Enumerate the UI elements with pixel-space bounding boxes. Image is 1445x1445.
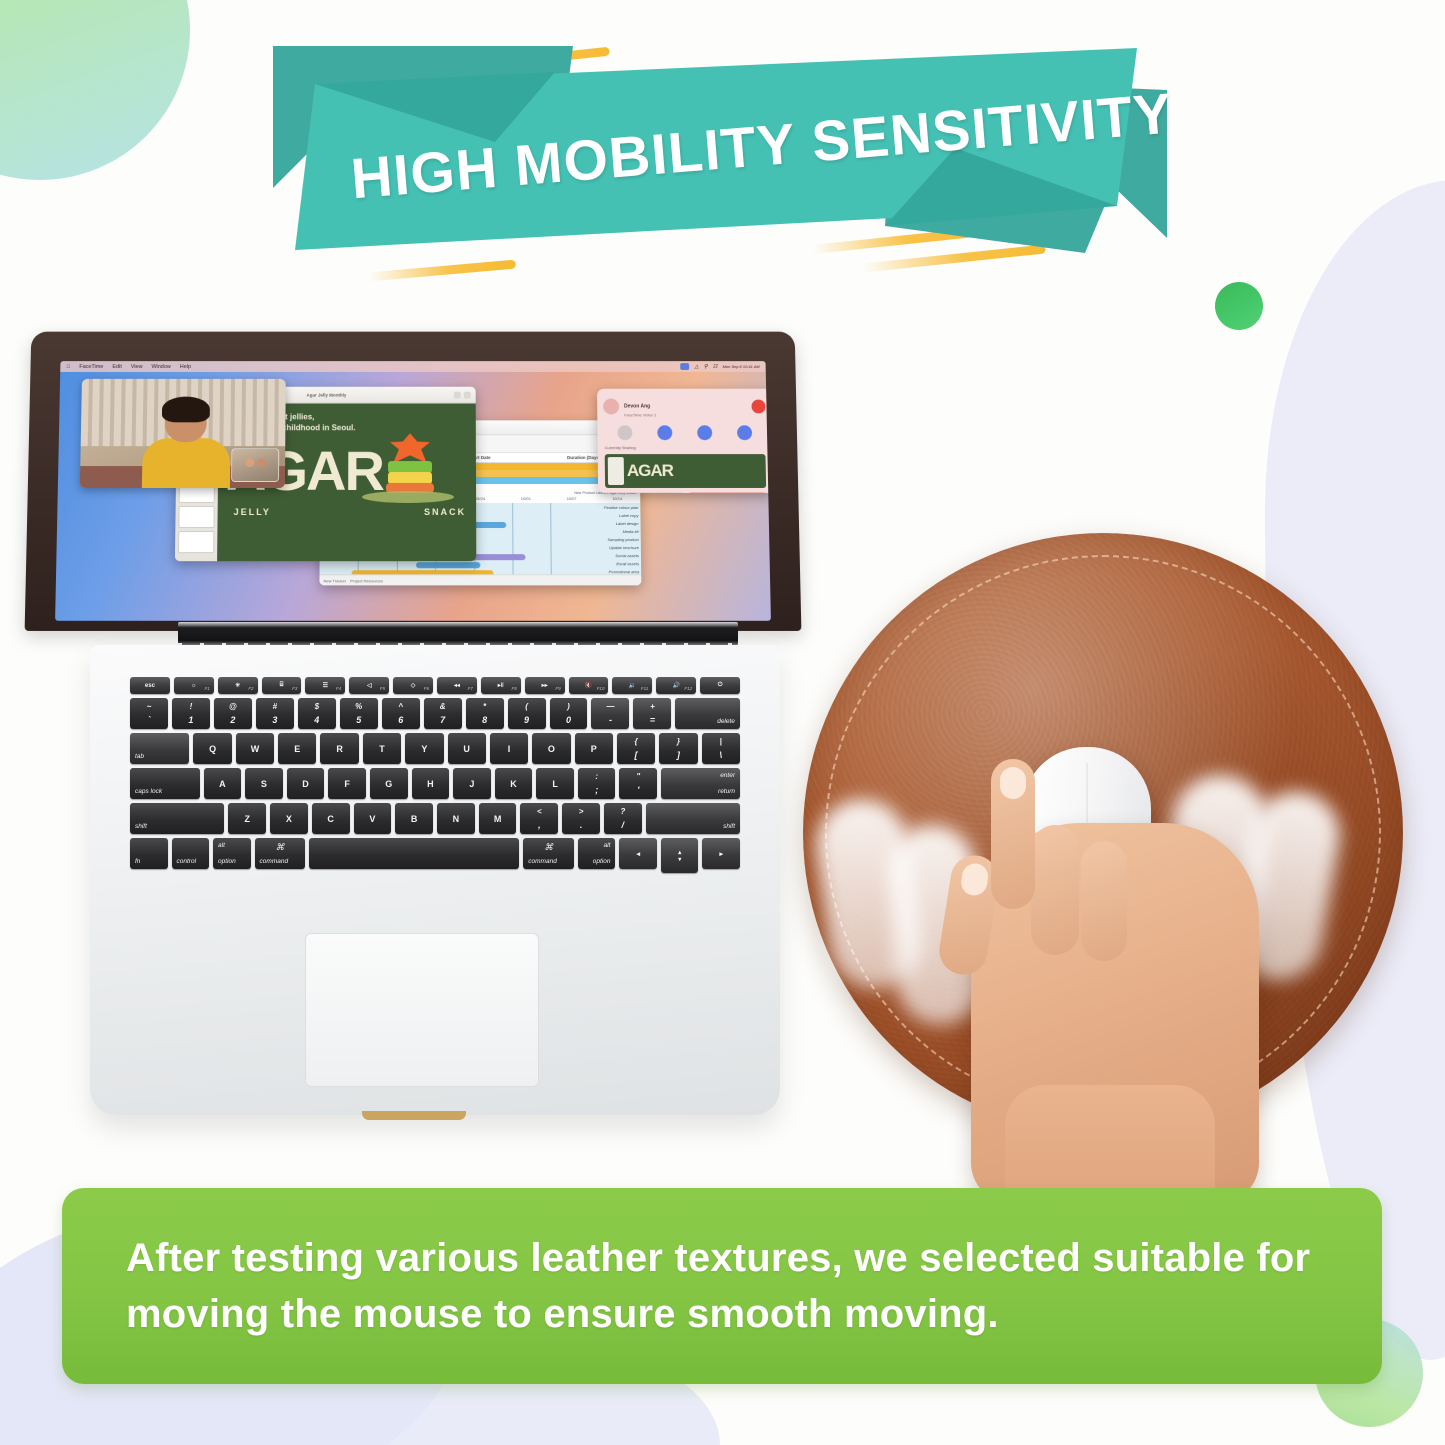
key-f11[interactable]: 🔉F11 <box>612 677 652 694</box>
control-center-icon[interactable]: ☷ <box>713 364 718 370</box>
menubar-clock[interactable]: Mon Sep 8 10:41 AM <box>722 364 759 369</box>
key-n[interactable]: N <box>437 803 475 834</box>
laptop-base: esc ☼F1 ☀F2 ⌸F3 ☰F4 ◁F5 ◇F6 ◂◂F7 ▸‖F8 ▸▸… <box>90 645 780 1115</box>
keyboard-row-number: ~` !1 @2 #3 $4 %5 ^6 &7 *8 (9 )0 —- += d… <box>130 698 740 729</box>
key-x[interactable]: X <box>270 803 308 834</box>
key-z[interactable]: Z <box>228 803 266 834</box>
key-s[interactable]: S <box>245 768 283 799</box>
key-w[interactable]: W <box>236 733 274 764</box>
laptop-lid:  FaceTime Edit View Window Help △ ⚲ ☷ M… <box>25 332 802 631</box>
headline-ribbon-banner: HIGH MOBILITY SENSITIVITY <box>255 38 1185 283</box>
gummy-product-image <box>384 433 436 495</box>
key-arrow-updown[interactable]: ▴ ▾ <box>661 838 699 873</box>
key-shift-left[interactable]: shift <box>130 803 224 834</box>
key-r[interactable]: R <box>320 733 358 764</box>
index-finger <box>991 759 1035 909</box>
key-period[interactable]: >. <box>562 803 600 834</box>
caption-line-1: After testing various leather textures, … <box>126 1230 1318 1286</box>
apple-menu-icon[interactable]:  <box>66 364 70 370</box>
gradient-blob-top-left <box>0 0 190 180</box>
key-b[interactable]: B <box>395 803 433 834</box>
effects-icon[interactable] <box>737 425 752 440</box>
key-c[interactable]: C <box>312 803 350 834</box>
key-f2[interactable]: ☀F2 <box>218 677 258 694</box>
arrow-up-icon[interactable]: ▴ <box>678 849 681 856</box>
edit-window-button[interactable] <box>605 492 684 493</box>
window-title: Agar Jelly Monthly <box>307 392 347 397</box>
key-bracket-right[interactable]: }] <box>659 733 697 764</box>
key-f3[interactable]: ⌸F3 <box>262 677 302 694</box>
key-l[interactable]: L <box>536 768 574 799</box>
key-f6[interactable]: ◇F6 <box>393 677 433 694</box>
spreadsheet-tabbar: New Tracker Project Resources <box>319 574 641 585</box>
key-4[interactable]: $4 <box>298 698 336 729</box>
person-hair <box>162 397 210 423</box>
key-slash[interactable]: ?/ <box>604 803 642 834</box>
key-f9[interactable]: ▸▸F9 <box>525 677 565 694</box>
macos-menubar:  FaceTime Edit View Window Help △ ⚲ ☷ M… <box>60 361 766 372</box>
key-f10[interactable]: 🔇F10 <box>569 677 609 694</box>
picture-in-picture-tile[interactable] <box>231 448 279 482</box>
person-body <box>142 438 231 488</box>
key-9[interactable]: (9 <box>508 698 546 729</box>
gantt-task-label: Update brochure <box>609 545 639 550</box>
key-tab[interactable]: tab <box>130 733 189 764</box>
key-tilde[interactable]: ~` <box>130 698 168 729</box>
key-t[interactable]: T <box>363 733 401 764</box>
key-p[interactable]: P <box>575 733 613 764</box>
key-option-right[interactable]: altoption <box>578 838 616 869</box>
key-delete[interactable]: delete <box>675 698 740 729</box>
keyboard-row-function: esc ☼F1 ☀F2 ⌸F3 ☰F4 ◁F5 ◇F6 ◂◂F7 ▸‖F8 ▸▸… <box>130 677 740 694</box>
trackpad[interactable] <box>305 933 539 1087</box>
toolbar-icon[interactable] <box>454 391 461 398</box>
key-k[interactable]: K <box>495 768 533 799</box>
ring-finger <box>1081 841 1127 961</box>
key-semicolon[interactable]: :; <box>578 768 616 799</box>
axis-tick: 10/07 <box>567 496 577 501</box>
key-command-right[interactable]: ⌘command <box>523 838 574 869</box>
share-screen-icon[interactable] <box>697 425 712 440</box>
key-f5[interactable]: ◁F5 <box>349 677 389 694</box>
key-caps-lock[interactable]: caps lock <box>130 768 200 799</box>
menubar-item[interactable]: Edit <box>112 364 122 370</box>
key-bracket-left[interactable]: {[ <box>617 733 655 764</box>
key-equals[interactable]: += <box>633 698 671 729</box>
key-quote[interactable]: "' <box>619 768 657 799</box>
share-action-row <box>598 489 771 493</box>
key-arrow-right[interactable]: ▸ <box>702 838 740 869</box>
key-d[interactable]: D <box>287 768 325 799</box>
gantt-task-label: Label copy <box>619 513 638 518</box>
key-e[interactable]: E <box>278 733 316 764</box>
facetime-window[interactable] <box>80 379 286 488</box>
slide-label-jelly: JELLY <box>234 507 271 517</box>
key-3[interactable]: #3 <box>256 698 294 729</box>
key-control[interactable]: control <box>172 838 210 869</box>
key-o[interactable]: O <box>532 733 570 764</box>
call-controls <box>597 423 771 442</box>
key-esc[interactable]: esc <box>130 677 170 694</box>
gantt-task-label: Label design <box>616 521 639 526</box>
key-return[interactable]: enterreturn <box>661 768 740 799</box>
slide-thumbnail[interactable] <box>178 506 214 528</box>
menubar-item[interactable]: FaceTime <box>79 364 103 370</box>
key-f8[interactable]: ▸‖F8 <box>481 677 521 694</box>
slide-label-snack: SNACK <box>424 507 466 517</box>
key-q[interactable]: Q <box>193 733 231 764</box>
caption-line-2: moving the mouse to ensure smooth moving… <box>126 1286 1318 1342</box>
menubar-item[interactable]: Window <box>151 364 171 370</box>
key-g[interactable]: G <box>370 768 408 799</box>
screenshare-icon[interactable] <box>681 363 690 370</box>
sharing-status-label: Currently Sharing <box>598 442 771 453</box>
key-f1[interactable]: ☼F1 <box>174 677 214 694</box>
key-u[interactable]: U <box>448 733 486 764</box>
middle-finger <box>1031 825 1079 955</box>
video-icon[interactable] <box>618 425 633 440</box>
key-5[interactable]: %5 <box>340 698 378 729</box>
sheet-tab[interactable]: New Tracker <box>323 578 346 583</box>
lid-release-notch <box>362 1111 466 1120</box>
key-f12[interactable]: 🔊F12 <box>656 677 696 694</box>
key-arrow-left[interactable]: ◂ <box>619 838 657 869</box>
keyboard-row-qwerty: tab Q W E R T Y U I O P {[ }] |\ <box>130 733 740 764</box>
menubar-status: △ ⚲ ☷ Mon Sep 8 10:41 AM <box>681 363 760 370</box>
key-7[interactable]: &7 <box>424 698 462 729</box>
gantt-task-label: Social assets <box>615 553 639 558</box>
key-y[interactable]: Y <box>405 733 443 764</box>
wifi-icon[interactable]: △ <box>694 364 698 370</box>
axis-tick: 09/24 <box>475 496 485 501</box>
caption-banner: After testing various leather textures, … <box>62 1188 1382 1384</box>
laptop-screen:  FaceTime Edit View Window Help △ ⚲ ☷ M… <box>55 361 771 621</box>
key-f7[interactable]: ◂◂F7 <box>437 677 477 694</box>
axis-tick: 10/01 <box>521 496 531 501</box>
gantt-task-label: Email assets <box>616 561 639 566</box>
key-shift-right[interactable]: shift <box>646 803 740 834</box>
mic-icon[interactable] <box>657 425 672 440</box>
key-f[interactable]: F <box>328 768 366 799</box>
keyboard[interactable]: esc ☼F1 ☀F2 ⌸F3 ☰F4 ◁F5 ◇F6 ◂◂F7 ▸‖F8 ▸▸… <box>130 677 740 901</box>
key-2[interactable]: @2 <box>214 698 252 729</box>
key-j[interactable]: J <box>453 768 491 799</box>
key-minus[interactable]: —- <box>591 698 629 729</box>
arrow-down-icon[interactable]: ▾ <box>678 856 681 863</box>
sheet-tab[interactable]: Project Resources <box>350 578 383 583</box>
menubar-item[interactable]: Help <box>180 364 191 370</box>
mousepad-scene <box>795 525 1425 1190</box>
gantt-task-label: Media kit <box>623 529 639 534</box>
avatar <box>603 398 619 414</box>
key-command-left[interactable]: ⌘command <box>255 838 306 869</box>
key-i[interactable]: I <box>490 733 528 764</box>
key-backslash[interactable]: |\ <box>702 733 740 764</box>
search-icon[interactable]: ⚲ <box>704 364 708 370</box>
macbook-laptop:  FaceTime Edit View Window Help △ ⚲ ☷ M… <box>28 330 798 1130</box>
screenshare-panel[interactable]: Devon Ang FaceTime Video 1 Currently Sha… <box>597 389 771 493</box>
slide-thumbnail[interactable] <box>178 531 214 553</box>
preview-brand-word: AGAR <box>627 461 673 481</box>
caller-name: Devon Ang <box>624 404 650 410</box>
toolbar-icon[interactable] <box>464 391 471 398</box>
key-8[interactable]: *8 <box>466 698 504 729</box>
plate-shape <box>362 491 454 503</box>
axis-tick: 10/14 <box>612 496 622 501</box>
key-h[interactable]: H <box>412 768 450 799</box>
view-sharing-button[interactable] <box>688 492 767 493</box>
key-option-left[interactable]: altoption <box>213 838 251 869</box>
key-a[interactable]: A <box>204 768 242 799</box>
gantt-task-label: Finalise colour plan <box>604 505 639 510</box>
product-infographic: HIGH MOBILITY SENSITIVITY  FaceTime Edi… <box>0 0 1445 1445</box>
preview-sidebar <box>608 457 624 485</box>
green-dot-decor <box>1215 282 1263 330</box>
key-f4[interactable]: ☰F4 <box>305 677 345 694</box>
key-m[interactable]: M <box>479 803 517 834</box>
gantt-task-label: Sampling product <box>608 537 639 542</box>
keyboard-row-home: caps lock A S D F G H J K L :; "' enterr… <box>130 768 740 799</box>
keyboard-row-modifiers: fn control altoption ⌘command ⌘command a… <box>130 838 740 873</box>
key-1[interactable]: !1 <box>172 698 210 729</box>
key-comma[interactable]: <, <box>520 803 558 834</box>
key-power[interactable]: ⏻ <box>700 677 740 694</box>
shared-slide-preview[interactable]: AGAR <box>605 454 766 488</box>
key-space[interactable] <box>309 838 519 869</box>
key-6[interactable]: ^6 <box>382 698 420 729</box>
keyboard-row-bottom-letters: shift Z X C V B N M <, >. ?/ shift <box>130 803 740 834</box>
caller-subtitle: FaceTime Video 1 <box>624 412 656 417</box>
caller-header: Devon Ang FaceTime Video 1 <box>597 389 771 424</box>
key-v[interactable]: V <box>354 803 392 834</box>
wrist <box>1005 1085 1215 1205</box>
end-call-button[interactable] <box>751 399 765 413</box>
key-fn[interactable]: fn <box>130 838 168 869</box>
key-0[interactable]: )0 <box>550 698 588 729</box>
menubar-item[interactable]: View <box>131 364 143 370</box>
